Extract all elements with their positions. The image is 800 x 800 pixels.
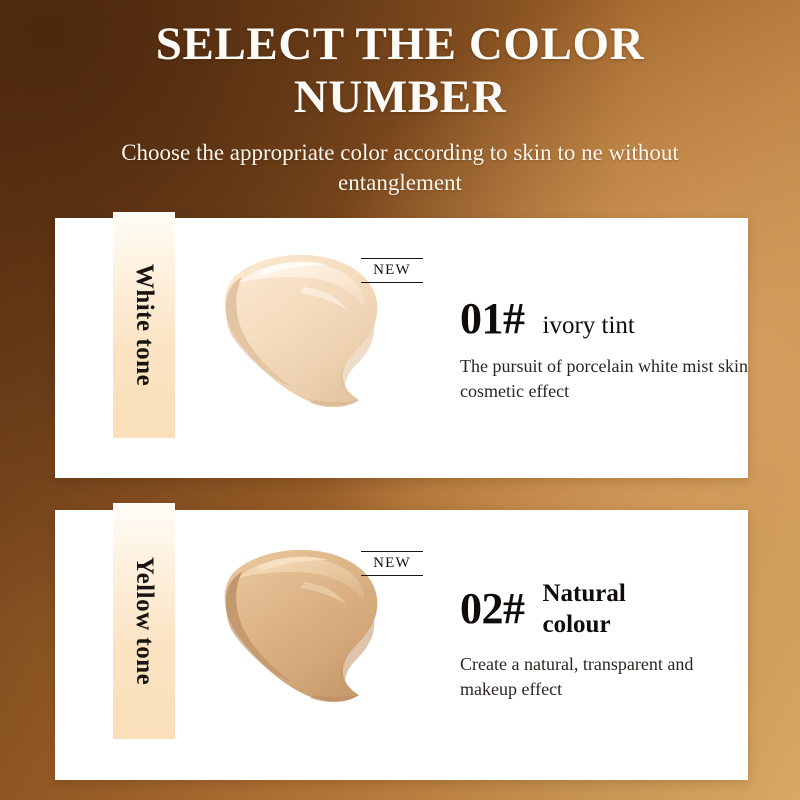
header: SELECT THE COLOR NUMBER Choose the appro… [0, 18, 800, 198]
tone-strip-yellow: Yellow tone [113, 503, 175, 739]
page-title: SELECT THE COLOR NUMBER [0, 18, 800, 124]
shade-title-01: ivory tint [543, 310, 635, 341]
poster-root: SELECT THE COLOR NUMBER Choose the appro… [0, 0, 800, 800]
shade-description-02: Create a natural, transparent and makeup… [460, 652, 750, 702]
tone-label-yellow: Yellow tone [130, 557, 158, 685]
new-badge-02: NEW [361, 551, 423, 576]
shade-description-01: The pursuit of porcelain white mist skin… [460, 354, 750, 404]
shade-code-02: 02# [460, 586, 525, 632]
tone-label-white: White tone [130, 264, 158, 386]
shade-info-02: 02# Natural colour Create a natural, tra… [460, 578, 750, 702]
new-badge-01: NEW [361, 258, 423, 283]
page-subtitle: Choose the appropriate color according t… [0, 124, 800, 198]
shade-title-02: Natural colour [543, 578, 678, 640]
shade-name-row-02: 02# Natural colour [460, 578, 750, 640]
shade-name-row-01: 01# ivory tint [460, 296, 750, 342]
tone-strip-white: White tone [113, 212, 175, 438]
shade-code-01: 01# [460, 296, 525, 342]
shade-info-01: 01# ivory tint The pursuit of porcelain … [460, 296, 750, 404]
